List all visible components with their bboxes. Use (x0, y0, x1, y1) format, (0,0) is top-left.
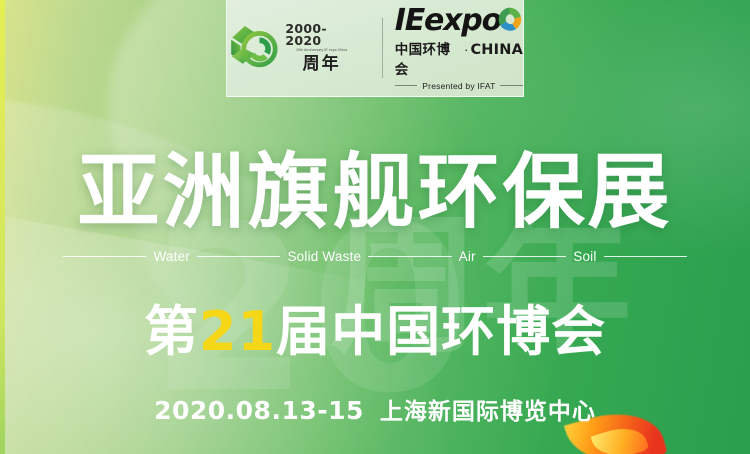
event-info-line: 2020.08.13-15上海新国际博览中心 (0, 392, 750, 426)
ieexpo-rule-left (395, 85, 418, 86)
logo-row: 2000-2020 20th Anniversary IE expo China… (227, 6, 523, 91)
ieexpo-presented-by: Presented by IFAT (422, 81, 495, 91)
event-venue: 上海新国际博览中心 (380, 399, 596, 425)
logo-divider (382, 18, 383, 78)
ieexpo-cn-label: 中国环博会 (395, 38, 462, 78)
ieexpo-wordmark: IEexpo (395, 6, 501, 36)
anniversary-logo: 2000-2020 20th Anniversary IE expo China… (227, 20, 370, 76)
category-water: Water (153, 249, 190, 264)
category-air: Air (459, 249, 476, 264)
ieexpo-wordmark-row: IEexpo (395, 6, 523, 36)
ie-expo-banner: 20 周年 (0, 0, 750, 454)
ieexpo-country-label: CHINA (470, 42, 523, 58)
category-solid-waste: Solid Waste (287, 249, 361, 264)
category-rule-0 (63, 256, 146, 257)
anniversary-years: 2000-2020 (285, 23, 357, 48)
secondary-headline-prefix: 第 (144, 300, 199, 363)
secondary-headline-suffix: 届中国环博会 (276, 300, 606, 363)
category-rule-4 (604, 256, 687, 257)
anniversary-micro-text: 20th Anniversary IE expo China (296, 49, 347, 53)
anniversary-cn-label: 周年 (303, 56, 341, 73)
category-soil: Soil (573, 249, 596, 264)
anniversary-text-block: 2000-2020 20th Anniversary IE expo China… (285, 23, 357, 73)
category-rule-3 (483, 256, 566, 257)
ieexpo-circle-mark-icon (496, 6, 523, 33)
category-strip: Water Solid Waste Air Soil (63, 249, 687, 264)
ieexpo-cn-row: 中国环博会 · CHINA (395, 38, 523, 78)
category-rule-1 (197, 256, 280, 257)
ieexpo-presented-row: Presented by IFAT (395, 81, 523, 91)
ieexpo-rule-right (500, 85, 523, 86)
event-date: 2020.08.13-15 (154, 396, 364, 425)
category-rule-2 (368, 256, 451, 257)
anniversary-20-mark-icon (227, 20, 279, 76)
ieexpo-logo: IEexpo 中国环博会 · CHINA Presented by IFAT (395, 6, 523, 91)
main-headline: 亚洲旗舰环保展 (0, 152, 750, 234)
secondary-headline: 第21届中国环博会 (0, 305, 750, 359)
edition-number: 21 (199, 300, 276, 363)
ieexpo-separator-dot: · (464, 42, 468, 57)
logo-panel: 2000-2020 20th Anniversary IE expo China… (226, 0, 524, 97)
